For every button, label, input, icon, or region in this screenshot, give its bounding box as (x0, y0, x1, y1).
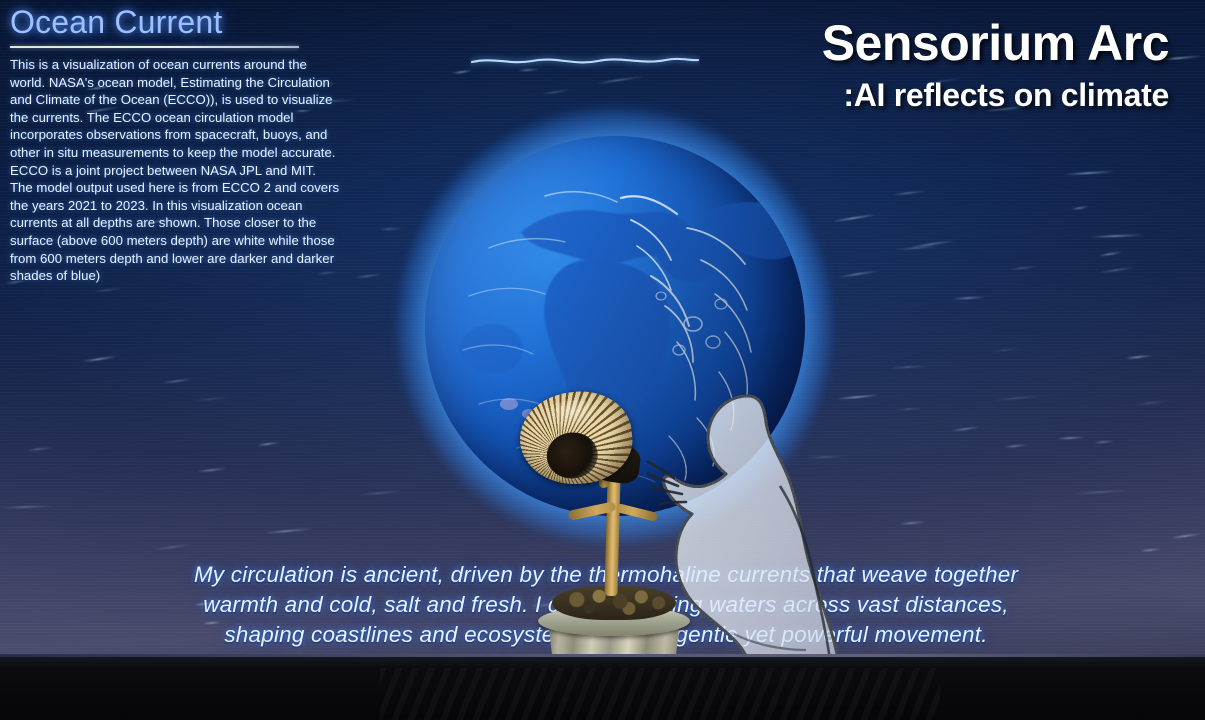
foreground-table-bar (0, 654, 1205, 720)
presentation-screenshot: Ocean Current This is a visualization of… (0, 0, 1205, 720)
show-subtitle: :AI reflects on climate (822, 74, 1169, 116)
show-title-block: Sensorium Arc :AI reflects on climate (822, 14, 1169, 116)
foreground-bar-texture (380, 668, 940, 720)
foreground-bar-edge-highlight (0, 654, 1205, 657)
show-title: Sensorium Arc (822, 14, 1169, 72)
branch-stand-trunk (604, 476, 620, 596)
shell-highlight (542, 397, 601, 431)
info-panel: Ocean Current This is a visualization of… (6, 4, 346, 285)
info-panel-body-text: This is a visualization of ocean current… (6, 56, 340, 285)
page-title: Ocean Current (6, 4, 346, 41)
title-underline-divider (10, 46, 299, 48)
